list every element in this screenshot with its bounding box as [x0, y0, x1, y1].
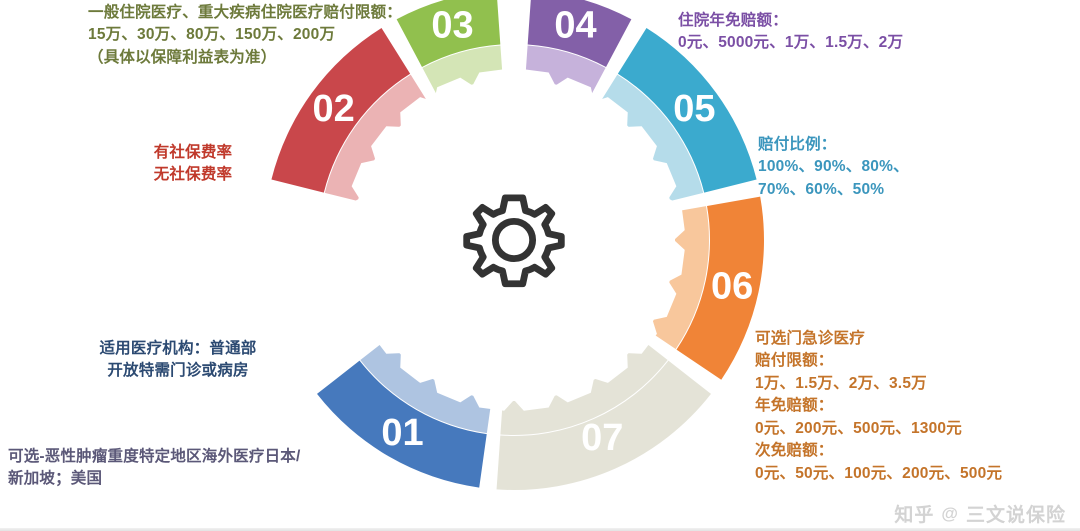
segment-number-06: 06 — [711, 265, 753, 307]
watermark: 知乎 @ 三文说保险 — [894, 500, 1066, 527]
watermark-platform: 知乎 — [894, 500, 934, 527]
note-segment-05: 赔付比例： 100%、90%、80%、 70%、60%、50% — [758, 134, 998, 201]
segment-number-03: 03 — [431, 5, 473, 47]
center-hub-circle — [353, 79, 675, 401]
segment-number-05: 05 — [673, 88, 715, 130]
segment-number-01: 01 — [381, 412, 423, 454]
note-segment-06: 可选门急诊医疗 赔付限额： 1万、1.5万、2万、3.5万 年免赔额： 0元、2… — [755, 328, 1015, 485]
segment-number-02: 02 — [312, 88, 354, 130]
segment-number-07: 07 — [581, 417, 623, 459]
note-segment-02: 有社保费率 无社保费率 — [108, 142, 278, 187]
donut-chart: 01020304050607 — [264, 0, 764, 490]
note-segment-01: 适用医疗机构：普通部 开放特需门诊或病房 — [62, 338, 294, 383]
watermark-account: 三文说保险 — [966, 500, 1066, 527]
segment-number-04: 04 — [554, 5, 596, 47]
infographic-canvas: 一般住院医疗、重大疾病住院医疗赔付限额： 15万、30万、80万、150万、20… — [0, 0, 1080, 531]
watermark-at: @ — [941, 504, 959, 524]
